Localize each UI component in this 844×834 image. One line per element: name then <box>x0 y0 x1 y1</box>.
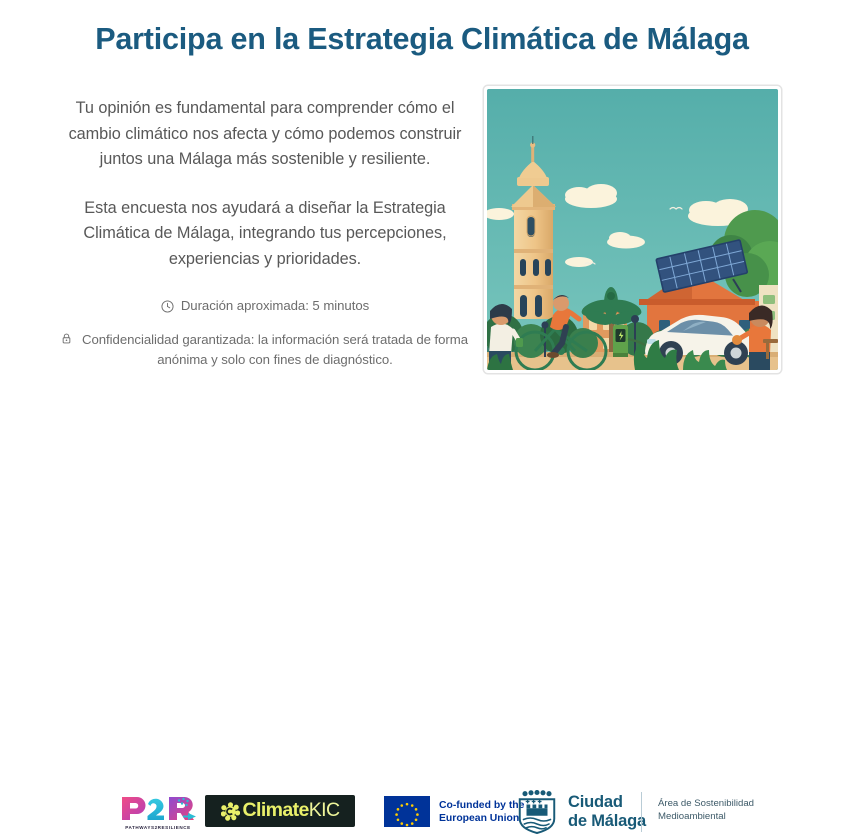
logo-ciudad-de-malaga: Ciudad de Málaga <box>516 790 646 834</box>
logo-strip: PATHWAYS2RESILIENCE ClimateKIC <box>0 392 844 452</box>
malaga-coat-of-arms-icon <box>516 790 558 834</box>
eu-flag-icon <box>384 796 430 827</box>
text-column: Tu opinión es fundamental para comprende… <box>55 96 475 369</box>
slide-canvas: Participa en la Estrategia Climática de … <box>0 0 844 475</box>
intro-paragraph-2: Esta encuesta nos ayudará a diseñar la E… <box>55 196 475 273</box>
malaga-text-line-2: de Málaga <box>568 812 646 830</box>
logo-pathways2resilience: PATHWAYS2RESILIENCE <box>112 790 204 834</box>
p2r-tagline: PATHWAYS2RESILIENCE <box>112 825 204 830</box>
p2r-mark-icon <box>119 795 197 822</box>
duration-row: Duración aproximada: 5 minutos <box>55 298 475 313</box>
climate-kic-light-text: KIC <box>309 799 340 821</box>
intro-paragraph-1: Tu opinión es fundamental para comprende… <box>55 96 475 173</box>
area-text-line-2: Medioambiental <box>658 811 726 822</box>
logo-climate-kic: ClimateKIC <box>205 795 355 827</box>
confidentiality-row: Confidencialidad garantizada: la informa… <box>55 330 475 369</box>
climate-kic-flower-icon <box>221 802 240 821</box>
clock-icon <box>161 300 174 313</box>
page-title: Participa en la Estrategia Climática de … <box>0 22 844 57</box>
eu-text-line-2: European Union <box>439 813 519 824</box>
confidentiality-text: Confidencialidad garantizada: la informa… <box>80 330 470 369</box>
climate-kic-bold-text: Climate <box>243 799 309 821</box>
logo-divider <box>641 792 642 832</box>
malaga-sustainable-city-illustration <box>487 89 778 370</box>
duration-text: Duración aproximada: 5 minutos <box>181 298 369 313</box>
area-text-line-1: Área de Sostenibilidad <box>658 798 754 809</box>
illustration-frame <box>484 86 781 373</box>
area-sostenibilidad-label: Área de Sostenibilidad Medioambiental <box>658 798 754 823</box>
eu-text-line-1: Co-funded by the <box>439 800 524 811</box>
lock-icon <box>60 331 73 344</box>
logo-european-union: Co-funded by the European Union <box>384 796 524 827</box>
malaga-text-line-1: Ciudad <box>568 793 623 811</box>
